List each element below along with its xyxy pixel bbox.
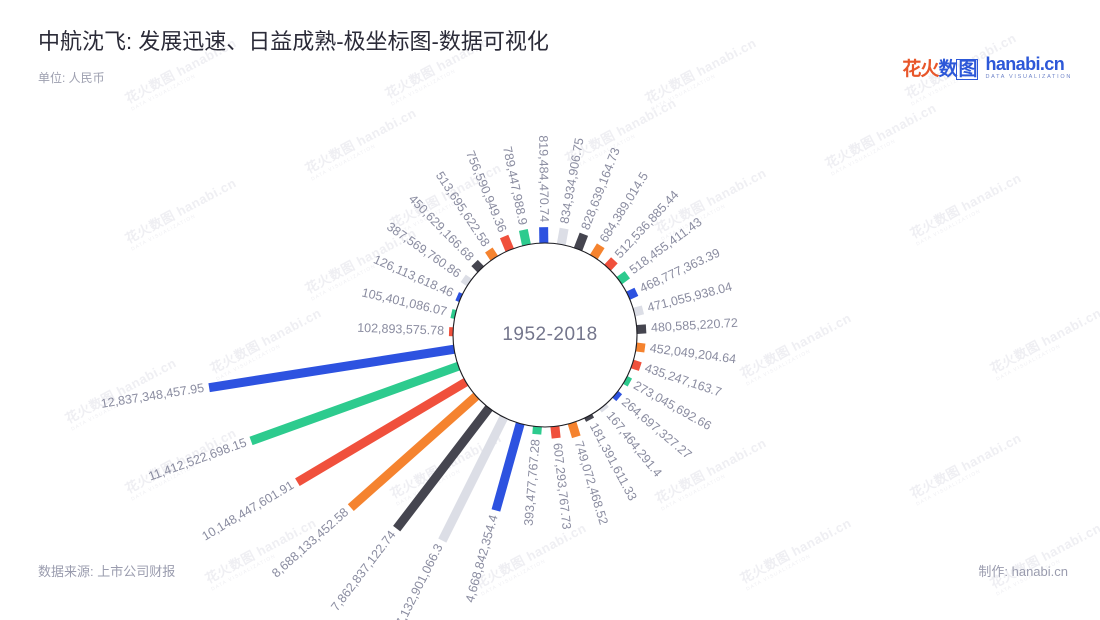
polar-bar [532,426,542,434]
page-title: 中航沈飞: 发展迅速、日益成熟-极坐标图-数据可视化 [38,28,549,57]
polar-bar [557,228,569,245]
polar-bar-value-label: 4,668,842,354.4 [463,513,501,604]
polar-bar-chart: 102,893,575.78105,401,086.07126,113,618.… [0,0,1100,620]
unit-label: 单位: 人民币 [38,70,106,86]
brand-logo-huahuo: 花火 [902,59,938,80]
polar-bar-value-label: 607,293,767.73 [550,442,573,530]
footer-data-source: 数据来源: 上市公司财报 [38,561,175,580]
footer-credit: 制作: hanabi.cn [978,561,1068,580]
polar-bar-value-label: 7,132,901,066.3 [393,542,446,620]
brand-logo-tagline: DATA VISUALIZATION [985,75,1072,81]
polar-bar-value-label: 7,862,837,122.74 [328,528,398,614]
brand-logo-tu: 图 [956,59,978,80]
polar-bar-value-label: 8,688,133,452.58 [269,505,351,580]
polar-bar [539,227,548,243]
brand-logo-english: hanabi.cn [985,55,1072,73]
brand-logo-english-wrap: hanabi.cn DATA VISUALIZATION [985,55,1072,81]
chart-header: 中航沈飞: 发展迅速、日益成熟-极坐标图-数据可视化 单位: 人民币 [38,28,549,86]
polar-bar-value-label: 789,447,988.9 [500,145,530,226]
polar-bar-value-label: 12,837,348,457.95 [100,381,205,411]
polar-bar-value-label: 393,477,767.28 [522,439,543,527]
polar-bar-value-label: 819,484,470.74 [536,135,551,222]
polar-bar-value-label: 452,049,204.64 [649,341,737,366]
polar-bar-value-label: 11,412,522,698.15 [146,435,248,483]
polar-bar-value-label: 480,585,220.72 [651,316,739,335]
inner-axis-circle [453,243,637,427]
polar-bar-value-label: 834,934,906.75 [557,137,586,225]
brand-logo: 花火数图 hanabi.cn DATA VISUALIZATION [902,54,1072,81]
polar-bar-value-label: 10,148,447,601.91 [200,478,297,543]
polar-bar [519,229,531,246]
brand-logo-chinese: 花火数图 [902,54,978,81]
polar-bar [550,426,560,439]
polar-bar [637,324,647,334]
brand-logo-shu: 数 [938,59,956,80]
polar-bar-value-label: 102,893,575.78 [357,321,444,338]
